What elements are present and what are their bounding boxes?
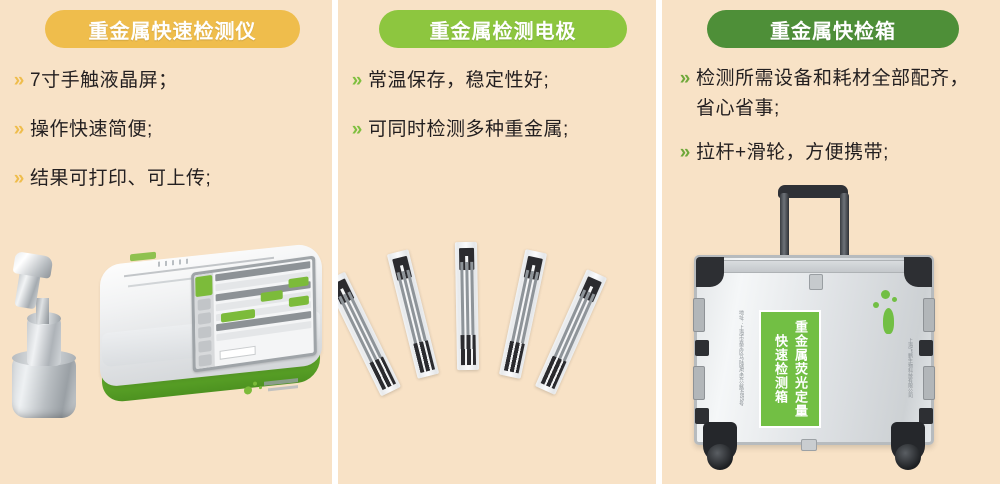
feature-text: 操作快速简便; — [30, 115, 153, 145]
accessory-neck — [27, 318, 61, 366]
case-hinge-right — [919, 340, 933, 356]
caster-wheel-right — [895, 444, 921, 470]
trolley-handle-post-left — [780, 193, 789, 263]
panel-2-title-text: 重金属检测电极 — [429, 15, 576, 44]
case-label-line-1: 重金属荧光定量 — [790, 320, 810, 418]
list-item: » 可同时检测多种重金属; — [346, 115, 648, 145]
case-brand-logo-icon — [867, 290, 903, 336]
screen-sidebar-item — [198, 326, 211, 339]
electrode-strip — [387, 249, 439, 379]
list-item: » 7寸手触液晶屏； — [8, 66, 324, 96]
case-hinge-left — [695, 340, 709, 356]
aluminum-case-body: 快速检测箱 重金属荧光定量 上海飞鹏生物科技有限公司 地址：上海市嘉定区马陆镇宝… — [694, 255, 934, 445]
panel-3-title-text: 重金属快检箱 — [770, 15, 896, 44]
case-latch-right — [923, 298, 935, 332]
feature-text: 拉杆+滑轮，方便携带; — [696, 138, 889, 168]
case-latch-right-lower — [923, 366, 935, 400]
screen-sidebar-item — [198, 340, 211, 353]
feature-text: 7寸手触液晶屏； — [30, 66, 178, 96]
case-latch-left-lower — [693, 366, 705, 400]
panel-2-feature-list: » 常温保存，稳定性好; » 可同时检测多种重金属; — [346, 66, 648, 164]
electrode-strip — [455, 242, 479, 370]
chevron-right-icon: » — [346, 115, 368, 145]
panel-1-feature-list: » 7寸手触液晶屏； » 操作快速简便; » 结果可打印、可上传; — [8, 66, 324, 213]
electrode-strip — [535, 269, 607, 395]
case-lock — [809, 274, 823, 290]
chevron-right-icon: » — [674, 138, 696, 168]
chevron-right-icon: » — [8, 115, 30, 145]
chevron-right-icon: » — [674, 64, 696, 94]
caster-wheel-left — [707, 444, 733, 470]
feature-text: 常温保存，稳定性好; — [368, 66, 549, 96]
panel-2-title-badge: 重金属检测电极 — [379, 10, 627, 48]
feature-text: 可同时检测多种重金属; — [368, 115, 569, 145]
product-feature-banner: 重金属快速检测仪 » 7寸手触液晶屏； » 操作快速简便; » 结果可打印、可上… — [0, 0, 1000, 484]
list-item: » 结果可打印、可上传; — [8, 164, 324, 194]
case-corner-top-left — [696, 257, 724, 287]
panel-1-title-text: 重金属快速检测仪 — [89, 15, 257, 44]
case-label-line-2: 快速检测箱 — [770, 334, 790, 404]
panel-heavy-metal-detection-electrode: 重金属检测电极 » 常温保存，稳定性好; » 可同时检测多种重金属; — [338, 0, 656, 484]
screen-sidebar — [194, 273, 215, 369]
electrode-product-image — [338, 230, 656, 484]
feature-text: 结果可打印、可上传; — [30, 164, 211, 194]
list-item: » 拉杆+滑轮，方便携带; — [674, 138, 992, 168]
case-corner-top-right — [904, 257, 932, 287]
panel-1-title-badge: 重金属快速检测仪 — [45, 10, 300, 48]
wheel-housing-left — [703, 422, 737, 462]
electrode-strip — [499, 249, 547, 379]
list-item: » 常温保存，稳定性好; — [346, 66, 648, 96]
chevron-right-icon: » — [8, 66, 30, 96]
electrode-strip — [338, 272, 401, 397]
analyzer-product-image — [0, 248, 332, 484]
screen-sidebar-item — [199, 354, 212, 367]
list-item: » 检测所需设备和耗材全部配齐，省心省事; — [674, 64, 992, 124]
screen-sidebar-active-item — [195, 275, 212, 297]
analyzer-touchscreen[interactable] — [191, 255, 317, 372]
case-lid-panel — [721, 260, 907, 273]
accessory-stem — [36, 298, 49, 324]
feature-text: 检测所需设备和耗材全部配齐，省心省事; — [696, 64, 976, 124]
case-bottom-foot — [801, 439, 817, 451]
list-item: » 操作快速简便; — [8, 115, 324, 145]
panel-heavy-metal-rapid-analyzer: 重金属快速检测仪 » 7寸手触液晶屏； » 操作快速简便; » 结果可打印、可上… — [0, 0, 332, 484]
chevron-right-icon: » — [8, 164, 30, 194]
screen-sidebar-item — [198, 312, 211, 325]
panel-3-title-badge: 重金属快检箱 — [707, 10, 959, 48]
case-company-address: 地址：上海市嘉定区马陆镇宝安公路4855号 — [737, 310, 744, 420]
trolley-case-product-image: 快速检测箱 重金属荧光定量 上海飞鹏生物科技有限公司 地址：上海市嘉定区马陆镇宝… — [662, 185, 1000, 484]
case-latch-left — [693, 298, 705, 332]
wheel-housing-right — [891, 422, 925, 462]
case-company-name: 上海飞鹏生物科技有限公司 — [906, 338, 913, 434]
bench-analyzer — [100, 248, 322, 428]
chevron-right-icon: » — [346, 66, 368, 96]
panel-heavy-metal-rapid-test-case: 重金属快检箱 » 检测所需设备和耗材全部配齐，省心省事; » 拉杆+滑轮，方便携… — [662, 0, 1000, 484]
screen-text-input[interactable] — [220, 346, 256, 360]
case-green-label: 快速检测箱 重金属荧光定量 — [759, 310, 821, 428]
trolley-handle-post-right — [840, 193, 849, 263]
panel-3-feature-list: » 检测所需设备和耗材全部配齐，省心省事; » 拉杆+滑轮，方便携带; — [674, 64, 992, 182]
screen-sidebar-item — [198, 298, 211, 311]
